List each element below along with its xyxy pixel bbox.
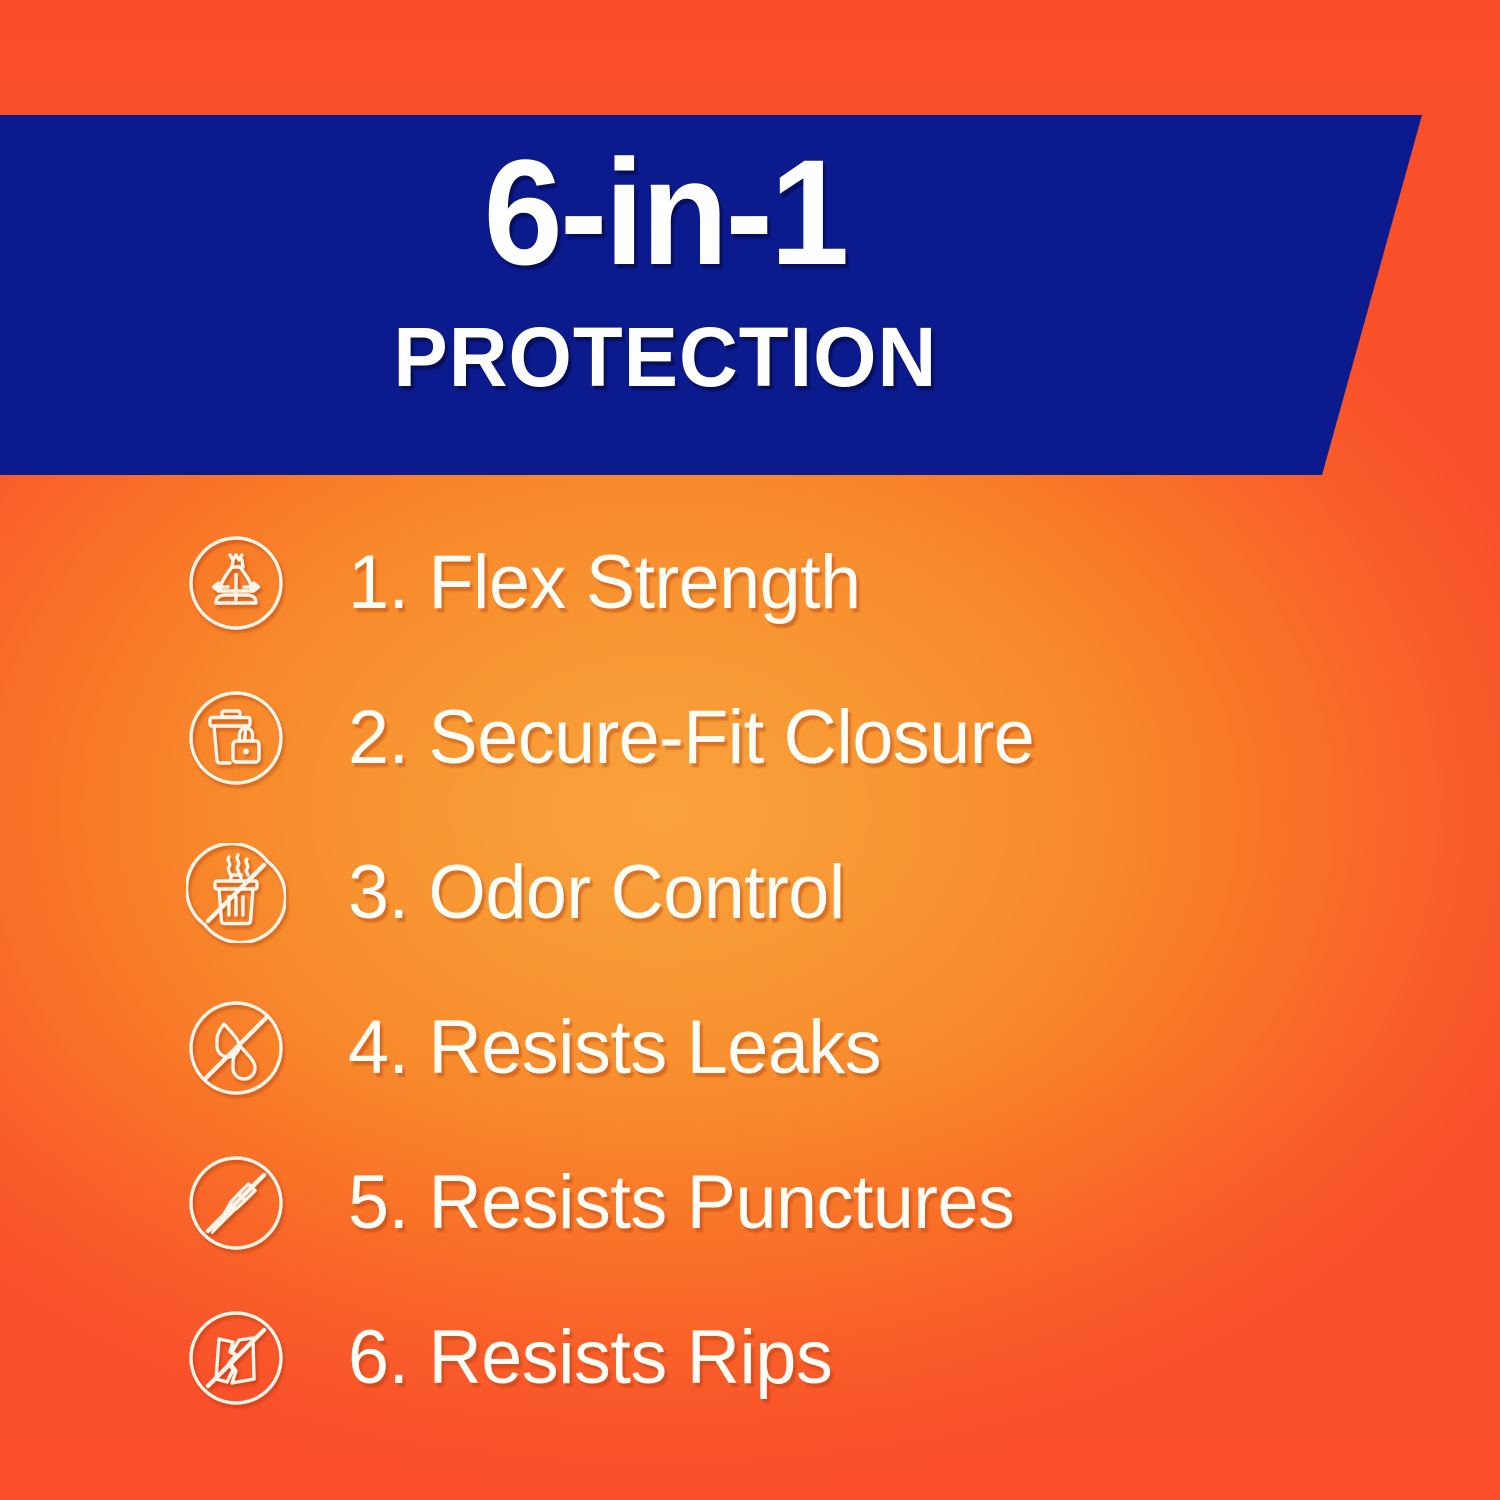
trash-can-padlock-icon bbox=[186, 688, 286, 788]
no-odor-trash-can-icon bbox=[186, 843, 286, 943]
infographic-canvas: 6-in-1 PROTECTION 1. Flex Strength bbox=[0, 0, 1500, 1500]
list-item: 4. Resists Leaks bbox=[0, 970, 1500, 1125]
bag-stretch-arrows-icon bbox=[186, 533, 286, 633]
list-item: 5. Resists Punctures bbox=[0, 1125, 1500, 1280]
feature-list: 1. Flex Strength 2. Secure-Fit Closure bbox=[0, 505, 1500, 1435]
list-item-label: 5. Resists Punctures bbox=[348, 1165, 1014, 1241]
list-item-label: 2. Secure-Fit Closure bbox=[348, 700, 1034, 776]
list-item-label: 4. Resists Leaks bbox=[348, 1010, 881, 1086]
no-water-droplets-icon bbox=[186, 998, 286, 1098]
list-item: 1. Flex Strength bbox=[0, 505, 1500, 660]
banner: 6-in-1 PROTECTION bbox=[0, 115, 1330, 475]
list-item-label: 6. Resists Rips bbox=[348, 1320, 832, 1396]
subheadline: PROTECTION bbox=[393, 315, 937, 399]
no-torn-bag-icon bbox=[186, 1308, 286, 1408]
list-item: 3. Odor Control bbox=[0, 815, 1500, 970]
list-item-label: 1. Flex Strength bbox=[348, 545, 861, 621]
list-item: 6. Resists Rips bbox=[0, 1280, 1500, 1435]
list-item-label: 3. Odor Control bbox=[348, 855, 845, 931]
no-sharp-puncture-icon bbox=[186, 1153, 286, 1253]
headline: 6-in-1 bbox=[484, 137, 847, 287]
list-item: 2. Secure-Fit Closure bbox=[0, 660, 1500, 815]
